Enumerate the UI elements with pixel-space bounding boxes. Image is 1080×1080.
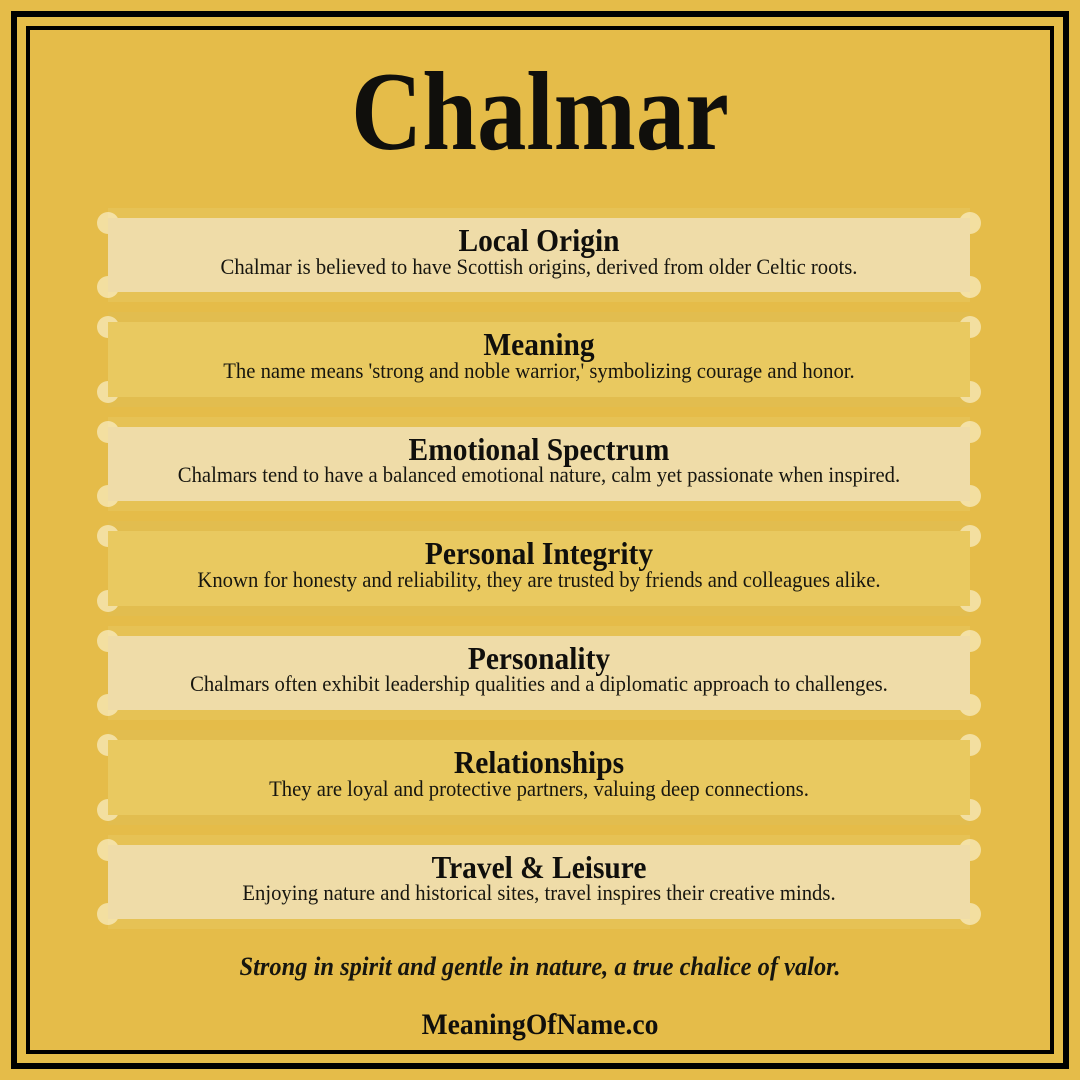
page-title: Chalmar — [91, 30, 989, 168]
card-title: Personality — [174, 642, 904, 676]
footer-tagline: Strong in spirit and gentle in nature, a… — [61, 952, 1020, 982]
card-body: Personal Integrity Known for honesty and… — [108, 531, 970, 605]
card-description: They are loyal and protective partners, … — [166, 776, 912, 803]
card-body: Meaning The name means 'strong and noble… — [108, 322, 970, 396]
card-title: Personal Integrity — [174, 537, 904, 571]
info-card-meaning: Meaning The name means 'strong and noble… — [108, 312, 970, 406]
info-card-personal-integrity: Personal Integrity Known for honesty and… — [108, 521, 970, 615]
info-card-travel-leisure: Travel & Leisure Enjoying nature and his… — [108, 835, 970, 929]
card-description: The name means 'strong and noble warrior… — [166, 358, 912, 385]
card-title: Emotional Spectrum — [174, 433, 904, 467]
card-description: Chalmar is believed to have Scottish ori… — [166, 254, 912, 281]
card-body: Relationships They are loyal and protect… — [108, 740, 970, 814]
card-body: Emotional Spectrum Chalmars tend to have… — [108, 427, 970, 501]
info-card-list: Local Origin Chalmar is believed to have… — [108, 208, 970, 939]
card-body: Local Origin Chalmar is believed to have… — [108, 218, 970, 292]
card-description: Chalmars often exhibit leadership qualit… — [166, 671, 912, 698]
card-description: Enjoying nature and historical sites, tr… — [166, 880, 912, 907]
info-card-personality: Personality Chalmars often exhibit leade… — [108, 626, 970, 720]
infographic-page: Chalmar Local Origin Chalmar is believed… — [30, 30, 1050, 1050]
card-title: Relationships — [174, 746, 904, 780]
footer: Strong in spirit and gentle in nature, a… — [30, 952, 1050, 1042]
info-card-local-origin: Local Origin Chalmar is believed to have… — [108, 208, 970, 302]
card-title: Meaning — [174, 328, 904, 362]
footer-brand: MeaningOfName.co — [71, 1008, 1009, 1042]
card-description: Known for honesty and reliability, they … — [166, 567, 912, 594]
info-card-emotional-spectrum: Emotional Spectrum Chalmars tend to have… — [108, 417, 970, 511]
card-description: Chalmars tend to have a balanced emotion… — [166, 462, 912, 489]
card-title: Travel & Leisure — [174, 851, 904, 885]
info-card-relationships: Relationships They are loyal and protect… — [108, 730, 970, 824]
card-title: Local Origin — [174, 224, 904, 258]
card-body: Travel & Leisure Enjoying nature and his… — [108, 845, 970, 919]
card-body: Personality Chalmars often exhibit leade… — [108, 636, 970, 710]
